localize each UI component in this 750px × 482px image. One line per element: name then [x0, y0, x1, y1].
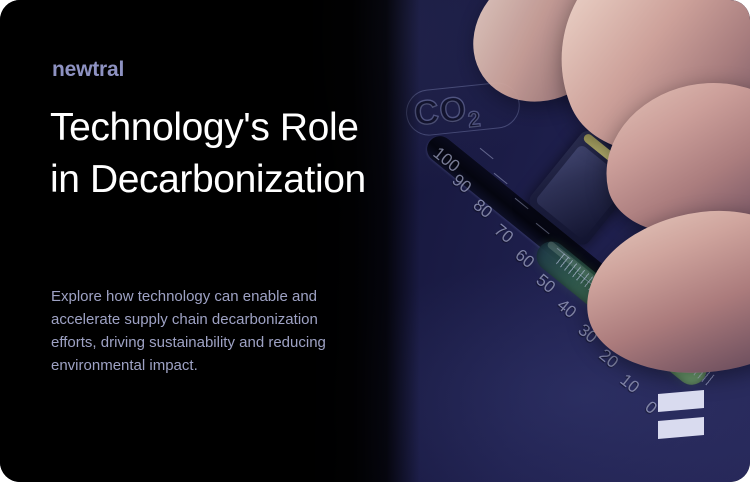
text-panel: newtral Technology's Role in Decarboniza…: [0, 0, 420, 482]
page-title: Technology's Role in Decarbonization: [50, 102, 390, 206]
watermark-bar-top: [658, 390, 704, 412]
watermark-bar-bottom: [658, 417, 704, 439]
page-description: Explore how technology can enable and ac…: [51, 285, 351, 377]
finger-thumb: [577, 198, 750, 386]
promo-card: CO2 100 90 80 70 60 50 40 30 20 10: [0, 0, 750, 482]
watermark-logo-icon: [658, 390, 704, 442]
brand-logo[interactable]: newtral: [52, 58, 124, 82]
